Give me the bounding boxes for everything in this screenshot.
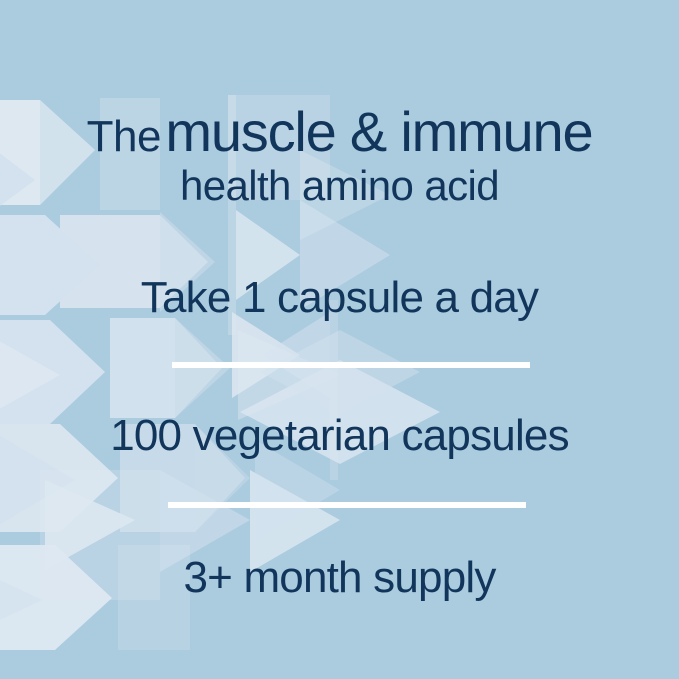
headline-emphasis: muscle & immune (165, 100, 592, 163)
product-feature-graphic: .pl { fill: #dde8f1; } .pm { fill: #c9dc… (0, 0, 679, 679)
headline-prefix: The (87, 112, 161, 161)
headline-line-primary: The muscle & immune (0, 104, 679, 160)
fact-capsule-count: 100 vegetarian capsules (0, 414, 679, 458)
content-stack: The muscle & immune health amino acid Ta… (0, 0, 679, 679)
headline-subline: health amino acid (0, 162, 679, 210)
fact-supply-duration: 3+ month supply (0, 556, 679, 600)
headline-block: The muscle & immune health amino acid (0, 104, 679, 210)
divider-1 (172, 362, 530, 368)
divider-2 (168, 502, 526, 508)
fact-dosage: Take 1 capsule a day (0, 276, 679, 320)
